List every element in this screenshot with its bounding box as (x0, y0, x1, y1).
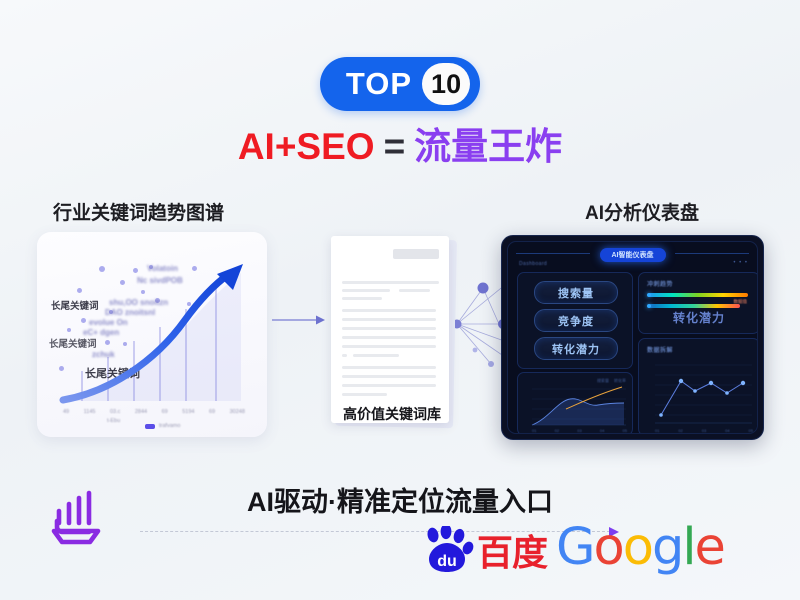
bar-chart-trophy-icon (45, 485, 107, 547)
gauge-tag-label: 数据值 (734, 299, 748, 305)
area-chart-panel: 搜索量 转化率 01 02 (517, 372, 633, 434)
left-section-caption: 行业关键词趋势图谱 (53, 198, 224, 225)
trend-x-tick-0: 49 (63, 409, 69, 415)
metric-pill-competition[interactable]: 竞争度 (534, 309, 618, 332)
gauge-bar-secondary (648, 304, 740, 308)
line-chart-panel: 数据拆解 (638, 338, 758, 434)
trend-legend: trafvamo (145, 423, 180, 429)
document-header-block (393, 249, 439, 259)
line-x-tick-2: 03 (702, 428, 706, 433)
ai-dashboard-card: AI智能仪表盘 Dashboard • • • 搜索量 竞争度 转化潜力 搜索量… (501, 235, 764, 440)
area-x-tick-1: 02 (555, 428, 559, 433)
trend-growth-arrow-icon (57, 262, 253, 407)
gauge-marker-primary (647, 293, 651, 297)
metric-pill-search-volume[interactable]: 搜索量 (534, 281, 618, 304)
line-x-tick-3: 04 (725, 428, 729, 433)
metric-pill-conversion[interactable]: 转化潜力 (534, 337, 618, 360)
baidu-mark-text: du (437, 553, 457, 570)
google-letter-4: l (682, 518, 694, 577)
baidu-paw-icon: du (420, 526, 474, 574)
gauge-panel-title: 冲刺趋势 (647, 279, 673, 288)
trend-x-axis: 49 1145 03.c 2844 69 5194 69 30248 (63, 409, 245, 415)
trend-x-tick-7: 30248 (230, 409, 245, 415)
slide-canvas: TOP 10 AI+SEO=流量王炸 行业关键词趋势图谱 AI分析仪表盘 (0, 0, 800, 600)
dashboard-title-badge: AI智能仪表盘 (600, 248, 666, 262)
area-x-tick-3: 04 (600, 428, 604, 433)
badge-rank-circle: 10 (422, 63, 470, 105)
line-x-tick-1: 02 (678, 428, 682, 433)
area-x-tick-4: 05 (623, 428, 627, 433)
baidu-wordmark: 百度 (477, 535, 547, 571)
page-title: AI+SEO=流量王炸 (0, 128, 800, 165)
dashboard-menu-icon[interactable]: • • • (733, 260, 748, 266)
headline-part-traffic: 流量王炸 (414, 126, 562, 167)
trend-x-tick-5: 5194 (182, 409, 194, 415)
area-chart-svg (518, 373, 632, 434)
trend-x-tick-1: 1145 (84, 409, 96, 415)
trend-x-tick-6: 69 (209, 409, 215, 415)
line-chart-svg (639, 339, 758, 434)
keyword-document-card (331, 236, 449, 423)
trend-axis-title: t-Ebu (107, 418, 120, 424)
badge-top-label: TOP (346, 68, 412, 101)
trend-legend-label: trafvamo (159, 423, 180, 429)
area-x-tick-0: 01 (532, 428, 536, 433)
headline-equals: = (384, 126, 406, 167)
google-letter-1: o (594, 518, 623, 577)
flow-arrow-right-icon (272, 313, 327, 327)
right-section-caption: AI分析仪表盘 (585, 198, 699, 225)
metric-pill-panel: 搜索量 竞争度 转化潜力 (517, 272, 633, 369)
headline-part-ai-seo: AI+SEO (238, 126, 375, 167)
line-x-tick-0: 01 (655, 428, 659, 433)
line-x-tick-4: 05 (749, 428, 753, 433)
google-letter-5: e (695, 518, 724, 577)
gauge-bar-primary (648, 293, 748, 297)
trend-legend-swatch (145, 424, 155, 429)
brand-logos: du 百度 Google (420, 522, 724, 577)
google-letter-2: o (623, 518, 652, 577)
gauge-overlay-label: 转化潜力 (639, 309, 758, 326)
area-x-tick-2: 03 (577, 428, 581, 433)
trend-x-tick-4: 69 (162, 409, 168, 415)
google-letter-0: G (556, 518, 594, 577)
gauge-marker-secondary (647, 304, 651, 308)
top-rank-badge: TOP 10 (320, 57, 480, 111)
footer-tagline: AI驱动·精准定位流量入口 (0, 480, 800, 519)
google-letter-3: g (652, 518, 682, 577)
top-rank-badge-wrapper: TOP 10 (0, 57, 800, 111)
trend-chart-card: Volatoin Nc sivdPOB shu,OO snoitzn DAO z… (37, 232, 267, 437)
dashboard-corner-label: Dashboard (519, 261, 547, 267)
dashboard-screen: AI智能仪表盘 Dashboard • • • 搜索量 竞争度 转化潜力 搜索量… (507, 241, 758, 434)
baidu-logo: du 百度 (420, 526, 547, 574)
gauge-panel: 冲刺趋势 数据值 转化潜力 (638, 272, 758, 334)
trend-x-tick-3: 2844 (135, 409, 147, 415)
trend-chart-body: Volatoin Nc sivdPOB shu,OO snoitzn DAO z… (37, 232, 267, 437)
google-logo: Google (556, 522, 724, 573)
trend-x-tick-2: 03.c (110, 409, 120, 415)
document-caption: 高价值关键词库 (331, 404, 453, 424)
